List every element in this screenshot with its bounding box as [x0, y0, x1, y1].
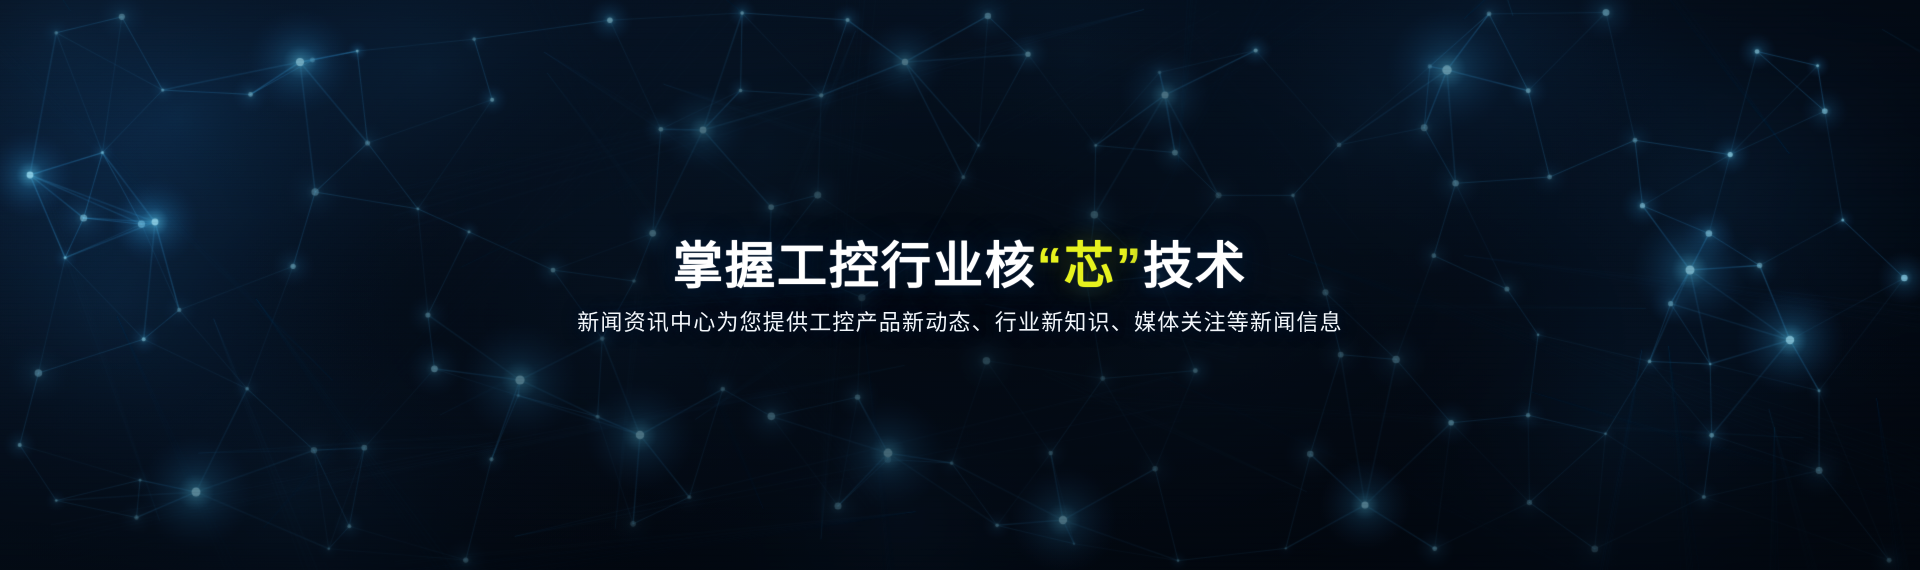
hero-text-block: 掌握工控行业核“芯”技术 新闻资讯中心为您提供工控产品新动态、行业新知识、媒体关…: [0, 0, 1920, 570]
page-title-lead: 掌握工控行业核: [673, 238, 1037, 294]
page-title-accent: “芯”: [1037, 238, 1143, 294]
page-title: 掌握工控行业核“芯”技术: [673, 239, 1247, 293]
page-subtitle: 新闻资讯中心为您提供工控产品新动态、行业新知识、媒体关注等新闻信息: [577, 309, 1343, 337]
hero-banner: 掌握工控行业核“芯”技术 新闻资讯中心为您提供工控产品新动态、行业新知识、媒体关…: [0, 0, 1920, 570]
page-title-trail: 技术: [1143, 238, 1247, 294]
